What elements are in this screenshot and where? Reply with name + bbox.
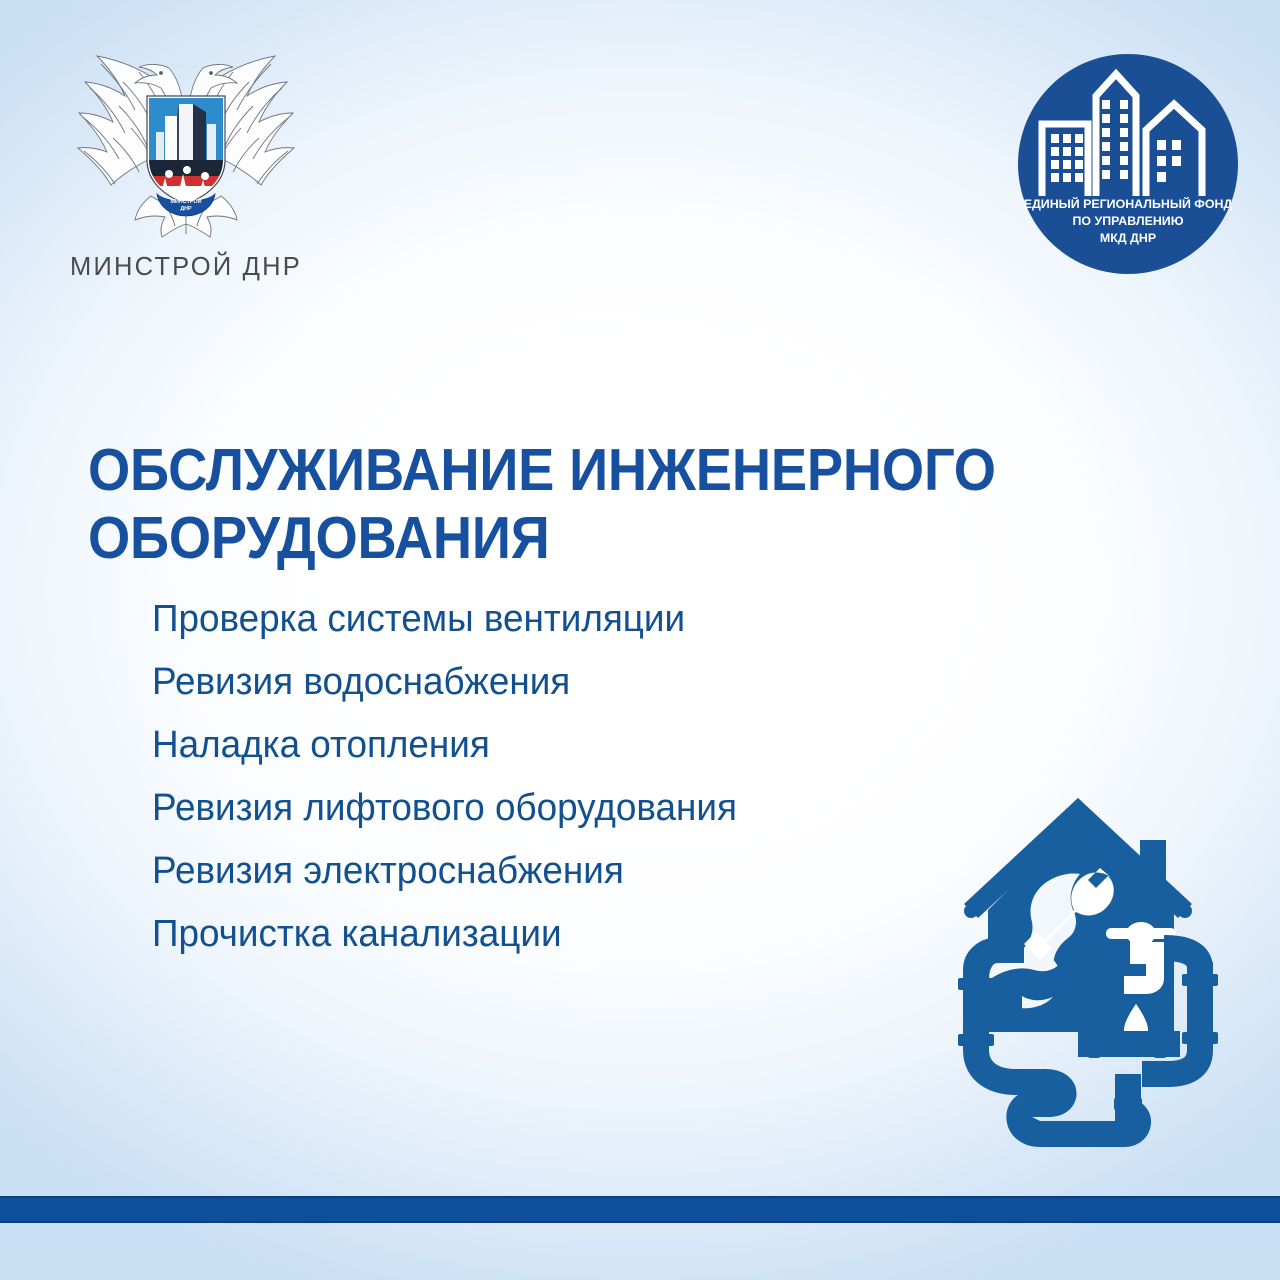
ministry-logo-block: МИНСТРОЙ ДНР МИНСТРОЙ ДНР	[46, 38, 326, 282]
fund-logo-line1: ЕДИНЫЙ РЕГИОНАЛЬНЫЙ ФОНД	[1024, 196, 1233, 211]
list-item: Прочистка канализации	[152, 915, 928, 953]
ministry-caption: МИНСТРОЙ ДНР	[46, 253, 326, 282]
list-item: Ревизия электроснабжения	[152, 852, 928, 890]
house-wrench-faucet-pipes-icon	[928, 782, 1248, 1172]
page-title: ОБСЛУЖИВАНИЕ ИНЖЕНЕРНОГО ОБОРУДОВАНИЯ	[88, 436, 1063, 573]
list-item: Наладка отопления	[152, 726, 928, 764]
double-headed-eagle-emblem: МИНСТРОЙ ДНР	[61, 38, 311, 243]
fund-logo: ЕДИНЫЙ РЕГИОНАЛЬНЫЙ ФОНД ПО УПРАВЛЕНИЮ М…	[1016, 52, 1240, 276]
fund-logo-line3: МКД ДНР	[1100, 231, 1156, 245]
list-item: Ревизия лифтового оборудования	[152, 789, 928, 827]
list-item: Проверка системы вентиляции	[152, 600, 928, 638]
shield-ribbon-line1: МИНСТРОЙ	[171, 197, 202, 205]
services-list: Проверка системы вентиляции Ревизия водо…	[152, 600, 952, 978]
shield-ribbon-line2: ДНР	[180, 206, 192, 212]
page-title-line-2: ОБОРУДОВАНИЯ	[88, 504, 1063, 572]
list-item: Ревизия водоснабжения	[152, 663, 928, 701]
fund-logo-line2: ПО УПРАВЛЕНИЮ	[1073, 214, 1184, 228]
page-title-line-1: ОБСЛУЖИВАНИЕ ИНЖЕНЕРНОГО	[88, 436, 1063, 504]
bottom-accent-bar	[0, 1196, 1280, 1223]
poster-canvas: МИНСТРОЙ ДНР МИНСТРОЙ ДНР	[0, 0, 1280, 1280]
